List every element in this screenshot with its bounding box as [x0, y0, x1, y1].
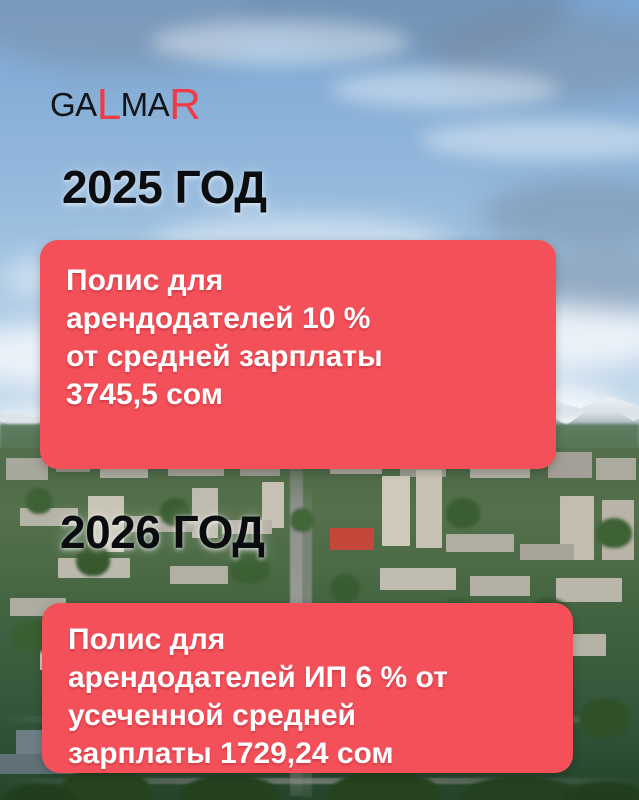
galmar-logo[interactable]: GALMAR: [50, 88, 200, 121]
offer-card-2026: Полис для арендодателей ИП 6 % от усечен…: [42, 603, 573, 773]
offer-card-2026-text: Полис для арендодателей ИП 6 % от усечен…: [68, 621, 547, 773]
year-heading-2026: 2026 ГОД: [60, 505, 265, 559]
logo-part-ma: MA: [121, 86, 170, 123]
year-heading-2025: 2025 ГОД: [62, 160, 267, 214]
logo-part-ga: GA: [50, 86, 97, 123]
offer-card-2025-text: Полис для арендодателей 10 % от средней …: [66, 262, 530, 414]
poster-canvas: GALMAR 2025 ГОД Полис для арендодателей …: [0, 0, 639, 800]
logo-part-r: R: [169, 80, 200, 129]
logo-part-l: L: [97, 80, 121, 129]
offer-card-2025: Полис для арендодателей 10 % от средней …: [40, 240, 556, 469]
